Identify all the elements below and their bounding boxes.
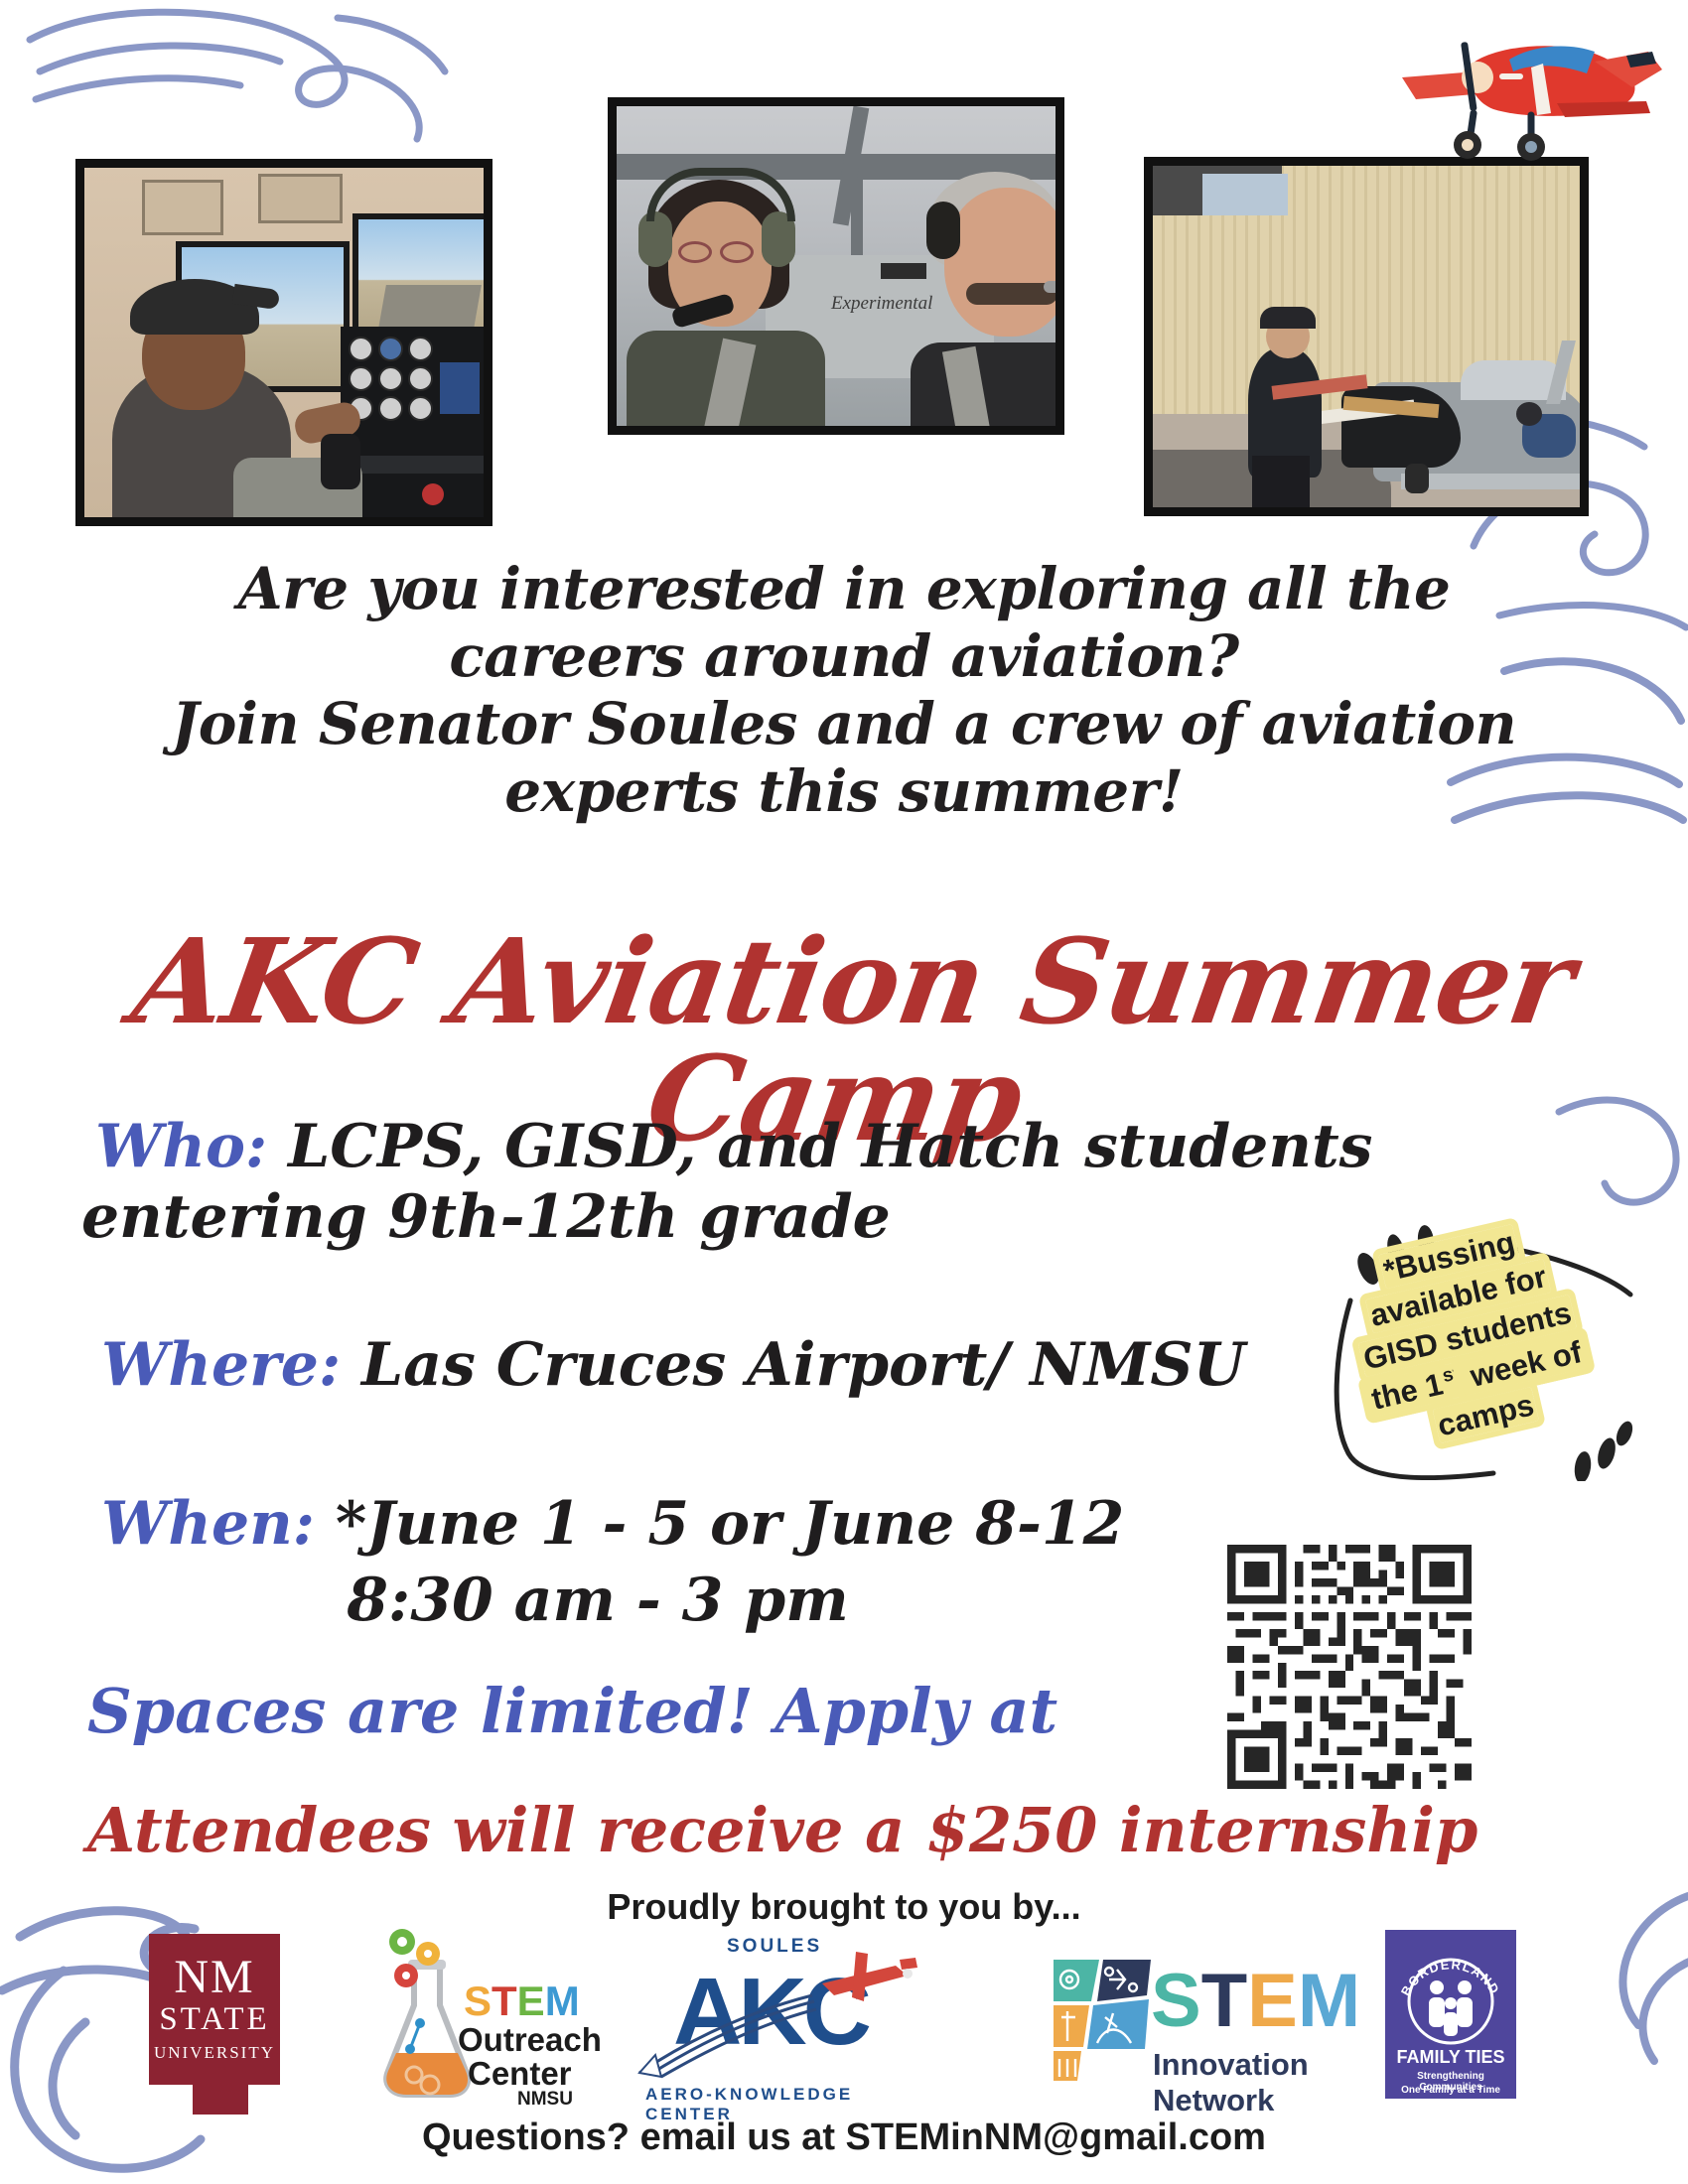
detail-who: Who: LCPS, GISD, and Hatch students ente… xyxy=(95,1112,1386,1253)
so-letter-e: E xyxy=(517,1978,545,2024)
sin-subtitle: Innovation Network xyxy=(1153,2047,1336,2118)
logo-stem-outreach-center: STEM Outreach Center NMSU xyxy=(372,1926,601,2105)
sin-letter-s: S xyxy=(1151,1959,1201,2043)
logo-borderland-family-ties: BORDERLAND FAMILY TIES Strengthening Com… xyxy=(1385,1930,1516,2099)
who-line-2: entering 9th-12th grade xyxy=(81,1182,1386,1253)
headline-line-1: Are you interested in exploring all the xyxy=(0,556,1688,623)
headline-line-2: careers around aviation? xyxy=(0,623,1688,691)
gears-icon xyxy=(380,1926,450,1997)
where-value: Las Cruces Airport/ NMSU xyxy=(341,1330,1245,1400)
so-letter-t: T xyxy=(492,1978,517,2024)
nmsu-line-2: STATE xyxy=(149,2001,280,2038)
sin-mosaic-icon xyxy=(1048,1956,1157,2085)
sponsor-logos: NM STATE UNIVERSITY STEM O xyxy=(0,1926,1688,2105)
wind-swirl-top-left xyxy=(10,0,487,149)
logo-nmsu: NM STATE UNIVERSITY xyxy=(149,1934,308,2103)
bussing-callout: *Bussing available for GISD students the… xyxy=(1309,1183,1636,1481)
bft-top-text: BORDERLAND xyxy=(1398,1957,1503,1998)
akc-plane-icon xyxy=(812,1944,921,2015)
red-airplane-icon xyxy=(1382,18,1680,167)
akc-swoosh-icon xyxy=(635,1989,824,2079)
brought-by-label: Proudly brought to you by... xyxy=(0,1886,1688,1928)
internship-tagline: Attendees will receive a $250 internship xyxy=(87,1797,1636,1864)
bft-sub-2: One Family at a Time xyxy=(1385,2085,1516,2096)
questions-email-line: Questions? email us at STEMinNM@gmail.co… xyxy=(0,2116,1688,2159)
logo-stem-innovation-network: STEM Innovation Network xyxy=(1048,1942,1336,2101)
who-value: LCPS, GISD, and Hatch students xyxy=(267,1112,1372,1181)
where-label: Where: xyxy=(101,1330,341,1400)
detail-where: Where: Las Cruces Airport/ NMSU xyxy=(101,1330,1392,1401)
photo-flight-simulator xyxy=(75,159,492,526)
logo-akc: SOULES AKC AERO-KNOWLEDGE CENTER xyxy=(635,1936,923,2105)
photo-airplane-maintenance xyxy=(1144,157,1589,516)
so-letter-m: M xyxy=(545,1978,580,2024)
so-outreach: Outreach xyxy=(458,2021,602,2059)
headline-line-3: Join Senator Soules and a crew of aviati… xyxy=(0,691,1688,758)
sin-letter-m: M xyxy=(1298,1959,1360,2043)
headline-block: Are you interested in exploring all the … xyxy=(0,556,1688,825)
photo-cockpit-selfie: Experimental xyxy=(608,97,1064,435)
sin-letter-e: E xyxy=(1247,1959,1298,2043)
when-value: *June 1 - 5 or June 8-12 xyxy=(315,1489,1124,1559)
so-center: Center xyxy=(468,2055,572,2093)
nmsu-line-1: NM xyxy=(149,1950,280,2004)
who-label: Who: xyxy=(95,1112,267,1181)
flyer-page: Experimental xyxy=(0,0,1688,2184)
apply-tagline: Spaces are limited! Apply at xyxy=(87,1678,1199,1745)
so-letter-s: S xyxy=(464,1978,492,2024)
detail-when: When: *June 1 - 5 or June 8-12 8:30 am -… xyxy=(101,1489,1273,1636)
when-line-2: 8:30 am - 3 pm xyxy=(101,1566,1094,1636)
bft-main: FAMILY TIES xyxy=(1385,2047,1516,2068)
so-nmsu: NMSU xyxy=(517,2089,573,2111)
when-label: When: xyxy=(101,1489,315,1559)
akc-soules: SOULES xyxy=(727,1936,822,1958)
headline-line-4: experts this summer! xyxy=(0,758,1688,826)
svg-text:BORDERLAND: BORDERLAND xyxy=(1398,1957,1503,1998)
qr-code[interactable] xyxy=(1227,1545,1472,1789)
sin-letter-t: T xyxy=(1201,1959,1247,2043)
nmsu-line-3: UNIVERSITY xyxy=(149,2043,280,2063)
